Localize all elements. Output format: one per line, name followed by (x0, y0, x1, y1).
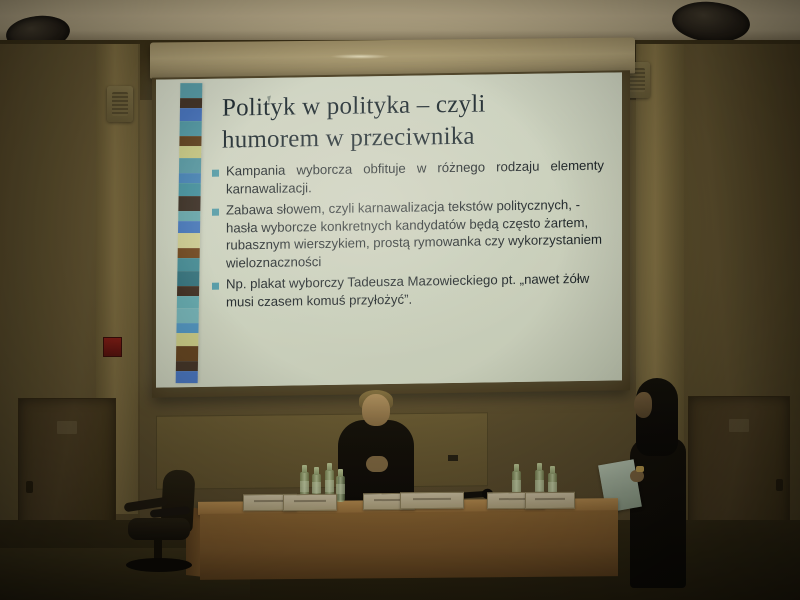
name-placard (283, 494, 337, 511)
valance-light-glint (330, 54, 390, 59)
photo-scene: Polityk w polityka – czyli humorem w prz… (0, 0, 800, 600)
door-right-number-plate (729, 419, 749, 432)
name-placard (525, 492, 575, 509)
projection-screen: Polityk w polityka – czyli humorem w prz… (156, 72, 622, 387)
list-item: Kampania wyborcza obfituje w różnego rod… (212, 157, 604, 198)
presenter-head (362, 394, 390, 426)
office-chair-base (126, 558, 192, 572)
assistant-face (634, 392, 652, 418)
decor-strip-block (176, 371, 198, 383)
decor-strip-block (177, 308, 199, 323)
list-item: Np. plakat wyborczy Tadeusza Mazowieckie… (212, 270, 604, 311)
door-right-handle-icon[interactable] (776, 479, 783, 491)
decor-strip-block (179, 173, 201, 183)
decor-strip-block (178, 221, 200, 233)
decor-strip-block (176, 361, 198, 371)
decor-strip-block (177, 286, 199, 296)
presenter-hands (366, 456, 388, 472)
door-left-number-plate (57, 421, 77, 434)
decor-strip-block (180, 108, 202, 120)
decor-strip-block (176, 333, 198, 345)
wall-whiteboard (156, 412, 488, 489)
slide-title-line-2: humorem w przeciwnika (222, 119, 594, 157)
assistant-body (630, 438, 686, 588)
whiteboard-clip-icon (448, 455, 458, 461)
decor-strip-block (178, 248, 200, 258)
decor-strip-block (179, 158, 201, 173)
decor-strip-block (180, 83, 202, 98)
name-placard (400, 492, 464, 510)
decor-strip-block (177, 271, 199, 286)
presentation-slide: Polityk w polityka – czyli humorem w prz… (156, 72, 622, 387)
decor-strip-block (178, 211, 200, 221)
bullet-text: Np. plakat wyborczy Tadeusza Mazowieckie… (226, 270, 604, 311)
decor-strip-block (179, 146, 201, 158)
door-left-handle-icon[interactable] (26, 481, 33, 493)
bullet-text: Zabawa słowem, czyli karnawalizacja teks… (226, 196, 604, 272)
table-front-panel (200, 510, 618, 580)
decor-strip-block (176, 323, 198, 333)
decor-strip-block (177, 296, 199, 308)
bullet-text: Kampania wyborcza obfituje w różnego rod… (226, 157, 604, 198)
slide-decorative-strip (176, 83, 203, 383)
decor-strip-block (180, 98, 202, 108)
office-chair-seat (128, 518, 190, 540)
slide-title: Polityk w polityka – czyli humorem w prz… (222, 87, 594, 157)
decor-strip-block (179, 136, 201, 146)
bullet-marker-icon (212, 283, 219, 290)
assistant-wristwatch-icon (636, 466, 644, 472)
bullet-marker-icon (212, 170, 219, 177)
decor-strip-block (176, 346, 198, 361)
fire-alarm-call-point-icon[interactable] (103, 337, 122, 357)
slide-bullet-list: Kampania wyborcza obfituje w różnego rod… (212, 157, 604, 316)
decor-strip-block (178, 233, 200, 248)
bullet-marker-icon (212, 209, 219, 216)
decor-strip-block (177, 258, 199, 270)
wall-speaker-left-icon (107, 86, 133, 122)
list-item: Zabawa słowem, czyli karnawalizacja teks… (212, 196, 604, 272)
decor-strip-block (179, 183, 201, 195)
decor-strip-block (180, 121, 202, 136)
water-bottle (336, 476, 345, 502)
decor-strip-block (178, 196, 200, 211)
